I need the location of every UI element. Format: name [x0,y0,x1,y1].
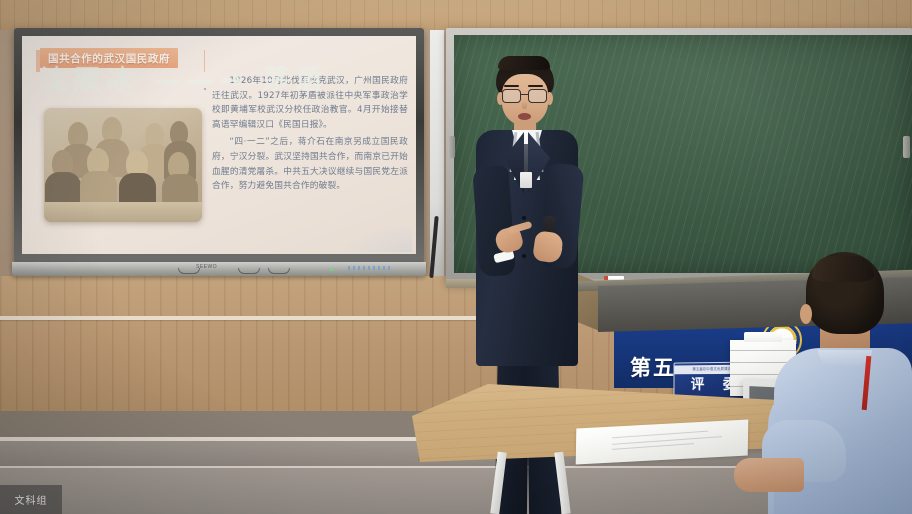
seated-person-figure [768,252,912,514]
teacher-ear-right [546,92,553,105]
slide-historic-photo [44,108,202,222]
smartboard-button[interactable] [238,268,260,274]
banner-text: 第五 [630,352,676,382]
photo-figure-body [119,173,156,204]
photo-table [44,202,202,222]
blackboard-clip-left[interactable] [448,136,455,158]
seated-forearm [734,458,804,492]
photo-figure-body [45,172,81,204]
classroom-video-frame: 第五 国共合作的武汉国民政府 [0,0,912,514]
watermark-text: 文科组 [15,492,48,507]
watermark-badge: 文科组 [0,485,62,514]
seated-shirt-collar [818,350,872,366]
photo-figure-body [162,174,198,204]
upper-wall-panel [0,0,912,30]
photo-figure-body [80,171,117,204]
slide-paragraph-2: “四·一二”之后，蒋介石在南京另成立国民政府，宁汉分裂。武汉坚持国共合作，而南京… [212,135,408,193]
glasses-lens-right-icon [528,89,547,103]
slide-corner-decoration [342,224,412,252]
blackboard-writing: 沈雁冰 ——→ 茅盾 [40,58,400,98]
smartboard-button[interactable] [268,268,290,274]
blackboard-clip-right[interactable] [903,136,910,158]
smartboard-indicator-leds [348,266,392,270]
teacher-mouth [518,113,531,120]
teacher-hair-sweep [498,56,550,70]
power-led-icon [330,268,333,271]
seated-ear [800,304,812,324]
glasses-lens-left-icon [502,89,521,103]
teacher-nose [522,101,527,109]
jacket-button [522,216,526,220]
seated-hair-highlight [812,256,874,282]
smartboard-button[interactable] [178,268,200,274]
glasses-bridge-icon [520,94,528,95]
teacher-id-badge [520,172,532,188]
